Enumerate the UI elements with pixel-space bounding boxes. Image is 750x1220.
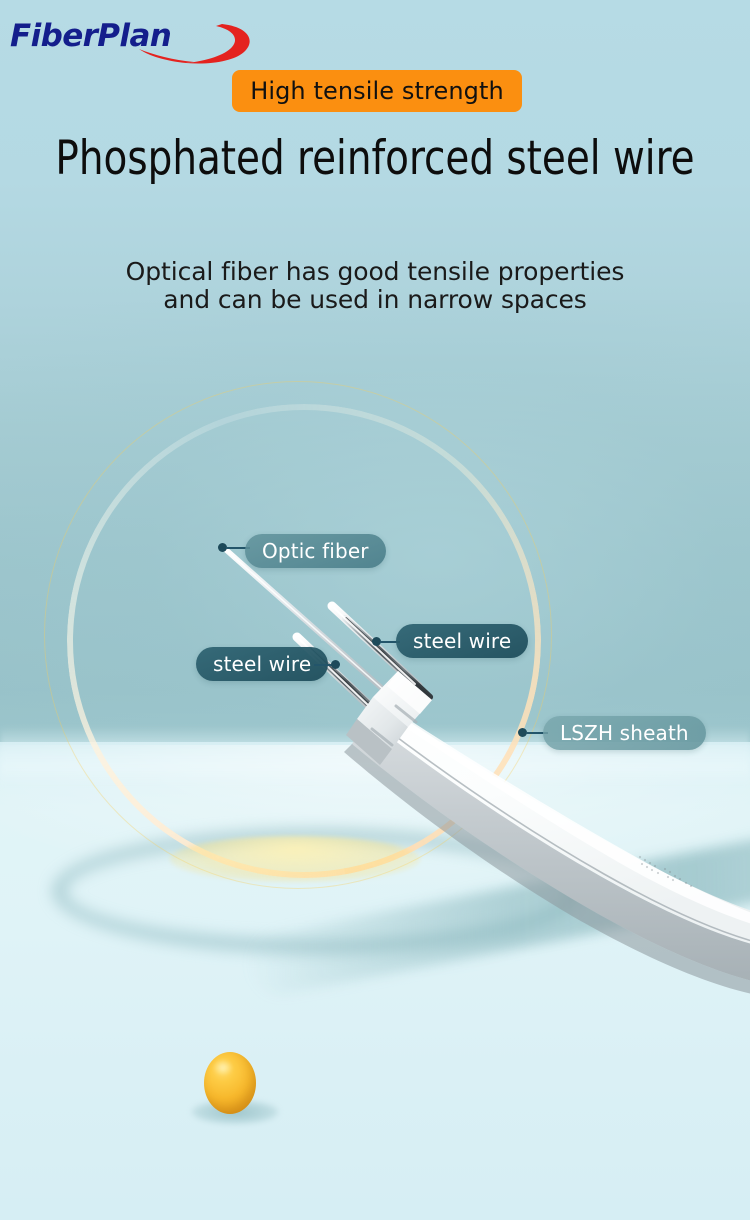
product-banner: FiberPlan High tensile strength Phosphat… [0, 0, 750, 1220]
ring-bottom-highlight [170, 836, 420, 882]
brand-logo[interactable]: FiberPlan [8, 14, 268, 68]
logo-wordmark: FiberPlan [10, 18, 171, 54]
yellow-ball [204, 1052, 256, 1114]
ball-highlight [214, 1060, 232, 1075]
callout-lszh-sheath[interactable]: LSZH sheath [543, 716, 706, 750]
feature-badge-label: High tensile strength [250, 79, 504, 103]
page-title: Phosphated reinforced steel wire [30, 133, 720, 186]
callout-optic-fiber-label: Optic fiber [262, 539, 369, 563]
subtitle-line-1: Optical fiber has good tensile propertie… [0, 258, 750, 286]
callout-steel-wire-upper-label: steel wire [413, 629, 511, 653]
page-subtitle: Optical fiber has good tensile propertie… [0, 258, 750, 314]
callout-optic-fiber[interactable]: Optic fiber [245, 534, 386, 568]
callout-lszh-sheath-label: LSZH sheath [560, 721, 689, 745]
callout-steel-wire-upper[interactable]: steel wire [396, 624, 528, 658]
feature-badge: High tensile strength [232, 70, 522, 112]
callout-steel-wire-lower-label: steel wire [213, 652, 311, 676]
subtitle-line-2: and can be used in narrow spaces [0, 286, 750, 314]
steel-wire-lower-leader-dot [331, 660, 340, 669]
callout-steel-wire-lower[interactable]: steel wire [196, 647, 328, 681]
